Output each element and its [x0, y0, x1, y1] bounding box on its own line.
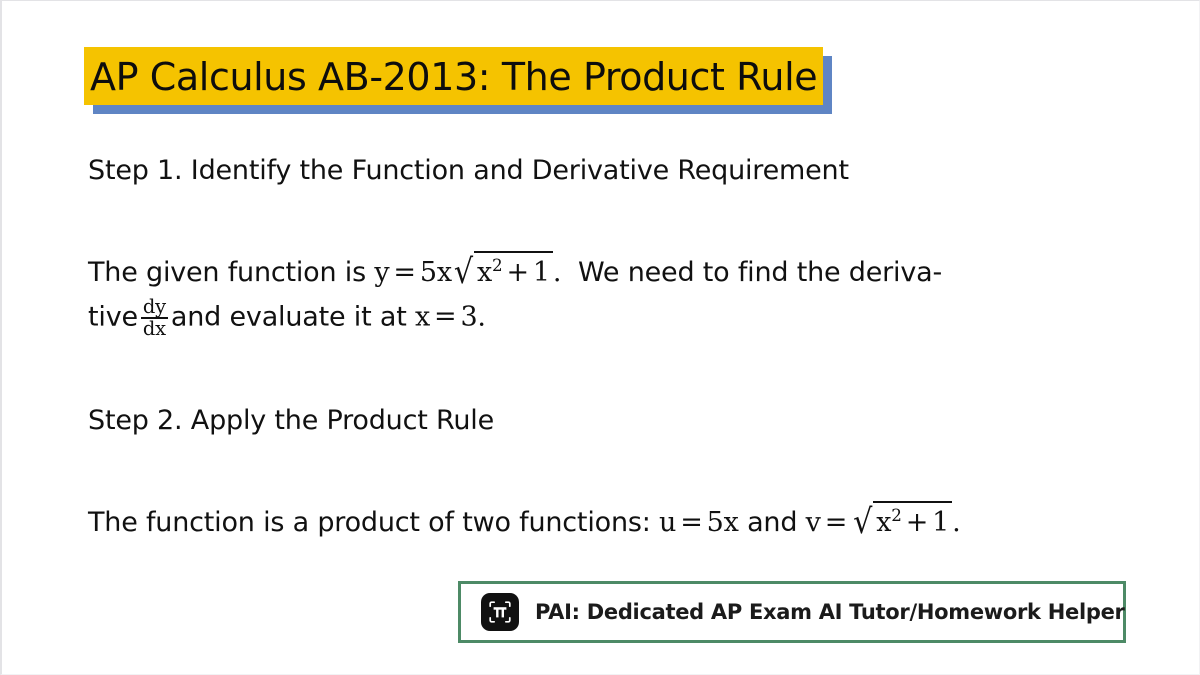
p1-coefficient: 5x [420, 257, 452, 288]
p1-line2-value: 3 [460, 301, 477, 332]
p2-radicand-exponent: 2 [891, 505, 901, 525]
pi-brand-icon [481, 593, 519, 631]
paragraph-1-line-2: tivedydxand evaluate it at x=3. [88, 297, 486, 339]
p2-radicand-base: x [876, 507, 891, 538]
title-highlight: AP Calculus AB-2013: The Product Rule [84, 47, 823, 105]
fraction-numerator: dy [141, 297, 168, 317]
p1-line2-equals: = [430, 301, 460, 332]
p1-lead-text: The given function is [88, 257, 366, 288]
fraction-denominator: dx [141, 317, 168, 339]
brand-footer-label: PAI: Dedicated AP Exam AI Tutor/Homework… [535, 600, 1125, 624]
p1-y-variable: y [374, 257, 389, 288]
p1-radicand-constant: 1 [533, 257, 550, 288]
p1-radicand-base: x [477, 257, 492, 288]
p1-square-root: √x2+1 [452, 251, 553, 293]
p2-radicand: x2+1 [873, 501, 952, 541]
radical-sign-icon: √ [454, 251, 473, 297]
p2-period: . [952, 507, 960, 538]
brand-footer-badge: PAI: Dedicated AP Exam AI Tutor/Homework… [458, 581, 1126, 643]
p2-square-root: √x2+1 [851, 501, 952, 543]
p2-u-equals: = [676, 507, 706, 538]
p1-line2-lead: tive [88, 301, 138, 332]
p1-equals: = [389, 257, 419, 288]
p1-period: . [553, 257, 561, 288]
p1-line2-mid: and evaluate it at [171, 301, 407, 332]
paragraph-2-line-1: The function is a product of two functio… [88, 501, 961, 543]
p1-radicand: x2+1 [474, 251, 553, 291]
p1-radicand-plus: + [502, 257, 532, 288]
p2-conjunction: and [747, 507, 797, 538]
p1-tail-text: We need to find the deriva- [578, 257, 942, 288]
step-2-heading: Step 2. Apply the Product Rule [88, 403, 494, 439]
p1-line2-period: . [477, 301, 485, 332]
paragraph-1-line-1: The given function is y=5x√x2+1. We need… [88, 251, 942, 293]
step-1-heading: Step 1. Identify the Function and Deriva… [88, 153, 849, 189]
p1-line2-x-variable: x [415, 301, 430, 332]
p2-u-value: 5x [707, 507, 739, 538]
p2-u-variable: u [659, 507, 676, 538]
page-title: AP Calculus AB-2013: The Product Rule [90, 55, 817, 99]
p2-radicand-plus: + [902, 507, 932, 538]
p1-radicand-exponent: 2 [492, 255, 502, 275]
radical-sign-icon: √ [853, 501, 872, 547]
derivative-fraction: dydx [141, 297, 168, 339]
p2-radicand-constant: 1 [932, 507, 949, 538]
p2-lead-text: The function is a product of two functio… [88, 507, 651, 538]
p2-v-equals: = [821, 507, 851, 538]
slide-title-block: AP Calculus AB-2013: The Product Rule [84, 47, 823, 105]
p2-v-variable: v [806, 507, 821, 538]
slide-canvas: AP Calculus AB-2013: The Product Rule St… [0, 0, 1200, 675]
